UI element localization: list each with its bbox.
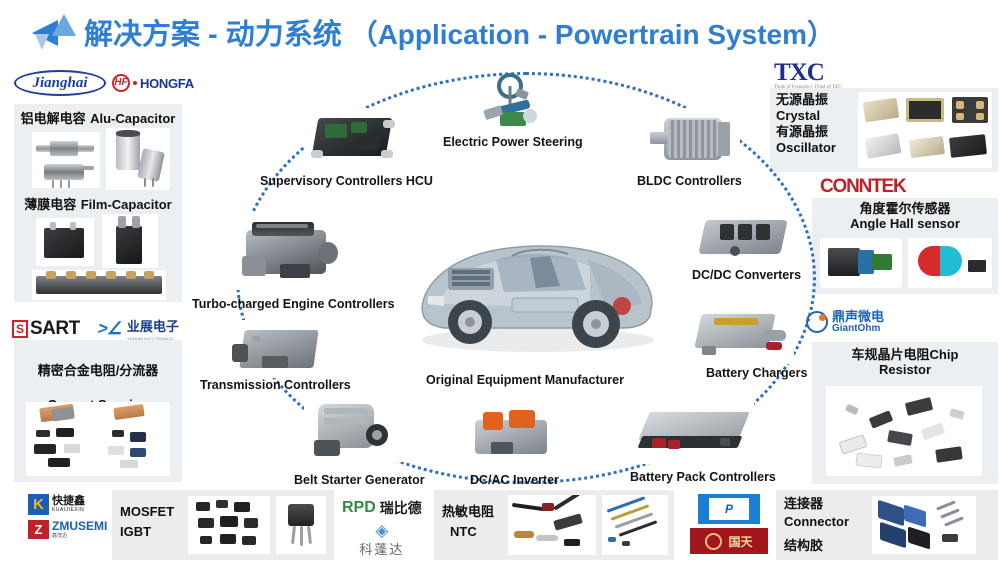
- bottom-partner-strip: K 快捷鑫 KUAIJIEXIN Z ZMUSEMI 鑫茂迅 MOSFET IG…: [0, 488, 1000, 562]
- connector-logo-column: P 国天: [690, 494, 768, 554]
- yezhan-mark: >∠: [96, 319, 125, 339]
- hongfa-logo: HF HONGFA: [112, 74, 194, 92]
- resistor-logo-row: S SART >∠ 业展电子 YEZHAN ELECTRONICS: [12, 316, 179, 341]
- connector-en-label: Connector: [784, 514, 849, 530]
- hcu-photo: [305, 108, 401, 168]
- rpd-logo: RPD 瑞比德: [342, 498, 422, 518]
- structural-adhesive-label: 结构胶: [784, 538, 823, 554]
- chip-resistor-caption: 车规晶片电阻Chip Resistor: [812, 348, 998, 378]
- mosfet-logo-column: K 快捷鑫 KUAIJIEXIN Z ZMUSEMI 鑫茂迅: [28, 494, 107, 539]
- alu-capacitor-photo-b: [106, 128, 170, 190]
- supervisory-controllers-hcu-label: Supervisory Controllers HCU: [260, 174, 433, 188]
- hall-sensor-logo-row: CONNTEK: [820, 176, 906, 198]
- ntc-panel: 热敏电阻 NTC: [434, 490, 674, 560]
- txc-logo: TXC Think of Frequency Think of TXC: [774, 60, 841, 90]
- mosfet-label: MOSFET: [120, 504, 174, 520]
- mosfet-igbt-panel: MOSFET IGBT: [112, 490, 334, 560]
- thermistor-label: 热敏电阻: [442, 504, 494, 520]
- battery-pack-photo: [634, 402, 754, 464]
- zmusemi-mark: Z: [28, 520, 49, 539]
- capacitor-logo-row: Jianghai HF HONGFA: [14, 70, 194, 96]
- chip-resistor-panel: 车规晶片电阻Chip Resistor: [812, 342, 998, 484]
- crystal-logo-row: TXC Think of Frequency Think of TXC: [774, 60, 841, 90]
- resistor-panel: 精密合金电阻/分流器 Current Sensing Resistor/Shun…: [14, 340, 182, 482]
- battery-charger-photo: [690, 306, 794, 364]
- kuaijiexin-mark: K: [28, 494, 49, 515]
- triangle-bullet-icon: [28, 12, 84, 52]
- kepengda-mark: ◈: [359, 522, 404, 539]
- sart-logo: S SART: [12, 318, 80, 340]
- film-capacitor-photo-b: [102, 214, 158, 268]
- hongfa-wordmark: HONGFA: [140, 76, 194, 91]
- dcdc-converters-label: DC/DC Converters: [692, 268, 801, 282]
- slide-canvas: 解决方案 - 动力系统 （Application - Powertrain Sy…: [0, 0, 1000, 562]
- jianghai-logo: Jianghai: [14, 70, 106, 96]
- conntek-logo: CONNTEK: [820, 176, 906, 198]
- crystal-photo-grid: [858, 92, 992, 168]
- page-title-cn: 解决方案 - 动力系统: [84, 19, 342, 51]
- ntc-label: NTC: [450, 524, 477, 540]
- hongfa-mark: HF: [112, 74, 130, 92]
- giantohm-logo: 鼎声微电 GiantOhm: [806, 310, 884, 334]
- sart-mark: S: [12, 320, 28, 338]
- igbt-photo: [276, 496, 326, 554]
- kuaijiexin-logo: K 快捷鑫 KUAIJIEXIN: [28, 494, 85, 515]
- ntc-photo-b: [602, 495, 668, 555]
- mosfet-photo: [188, 496, 270, 554]
- connector-brand-logo: P: [698, 494, 760, 524]
- oem-label: Original Equipment Manufacturer: [426, 373, 624, 387]
- alu-capacitor-photo-a: [32, 132, 100, 188]
- hall-sensor-panel: 角度霍尔传感器 Angle Hall sensor: [812, 198, 998, 294]
- dcac-inverter-label: DC/AC Inverter: [470, 473, 559, 487]
- chip-resistor-photo: [826, 386, 982, 476]
- hall-magnet-photo: [908, 238, 992, 288]
- eps-photo: [470, 72, 554, 134]
- connector-photo: [872, 496, 976, 554]
- capacitor-panel: 铝电解电容 Alu-Capacitor 薄膜电容 Film-Capacitor: [14, 104, 182, 302]
- film-capacitor-photo-a: [36, 218, 94, 266]
- transmission-controllers-label: Transmission Controllers: [200, 378, 351, 392]
- battery-pack-controllers-label: Battery Pack Controllers: [630, 470, 776, 484]
- connector-cn-label: 连接器: [784, 496, 823, 512]
- alu-capacitor-caption: 铝电解电容 Alu-Capacitor: [14, 110, 182, 128]
- shunt-resistor-photo: [26, 402, 170, 476]
- yezhan-logo: >∠ 业展电子 YEZHAN ELECTRONICS: [98, 316, 179, 341]
- crystal-caption-lines: 无源晶振 Crystal 有源晶振 Oscillator: [776, 92, 854, 155]
- dcac-inverter-photo: [465, 406, 561, 464]
- vehicle-cutaway-svg: [400, 212, 670, 362]
- glue-mark: [705, 533, 722, 550]
- bldc-controllers-label: BLDC Controllers: [637, 174, 742, 188]
- page-title: 解决方案 - 动力系统 （Application - Powertrain Sy…: [0, 6, 1000, 58]
- hall-motor-photo: [820, 238, 902, 288]
- turbo-charged-engine-controllers-label: Turbo-charged Engine Controllers: [192, 297, 395, 311]
- vehicle-cutaway-image: [400, 212, 670, 362]
- kepengda-logo: ◈ 科蓬达: [359, 522, 404, 558]
- crystal-panel: 无源晶振 Crystal 有源晶振 Oscillator: [770, 88, 998, 172]
- chip-resistor-logo-row: 鼎声微电 GiantOhm: [806, 310, 884, 334]
- film-capacitor-caption: 薄膜电容 Film-Capacitor: [14, 196, 182, 214]
- bsg-photo: [304, 396, 404, 462]
- power-module-photo: [32, 270, 166, 300]
- bldc-photo: [644, 108, 740, 170]
- page-title-en: （Application - Powertrain System）: [350, 19, 835, 50]
- hongfa-dot: [133, 81, 137, 85]
- igbt-label: IGBT: [120, 524, 151, 540]
- turbo-engine-photo: [232, 212, 344, 290]
- battery-chargers-label: Battery Chargers: [706, 366, 807, 380]
- dcdc-photo: [694, 208, 794, 266]
- belt-starter-generator-label: Belt Starter Generator: [294, 473, 425, 487]
- transmission-photo: [228, 320, 326, 378]
- electric-power-steering-label: Electric Power Steering: [443, 135, 583, 149]
- connector-panel: 连接器 Connector 结构胶: [776, 490, 998, 560]
- glue-brand-logo: 国天: [690, 528, 768, 554]
- ntc-photo-a: [508, 495, 596, 555]
- zmusemi-logo: Z ZMUSEMI 鑫茂迅: [28, 520, 107, 539]
- ntc-logo-column: RPD 瑞比德 ◈ 科蓬达: [342, 498, 422, 558]
- hall-sensor-caption: 角度霍尔传感器 Angle Hall sensor: [812, 202, 998, 232]
